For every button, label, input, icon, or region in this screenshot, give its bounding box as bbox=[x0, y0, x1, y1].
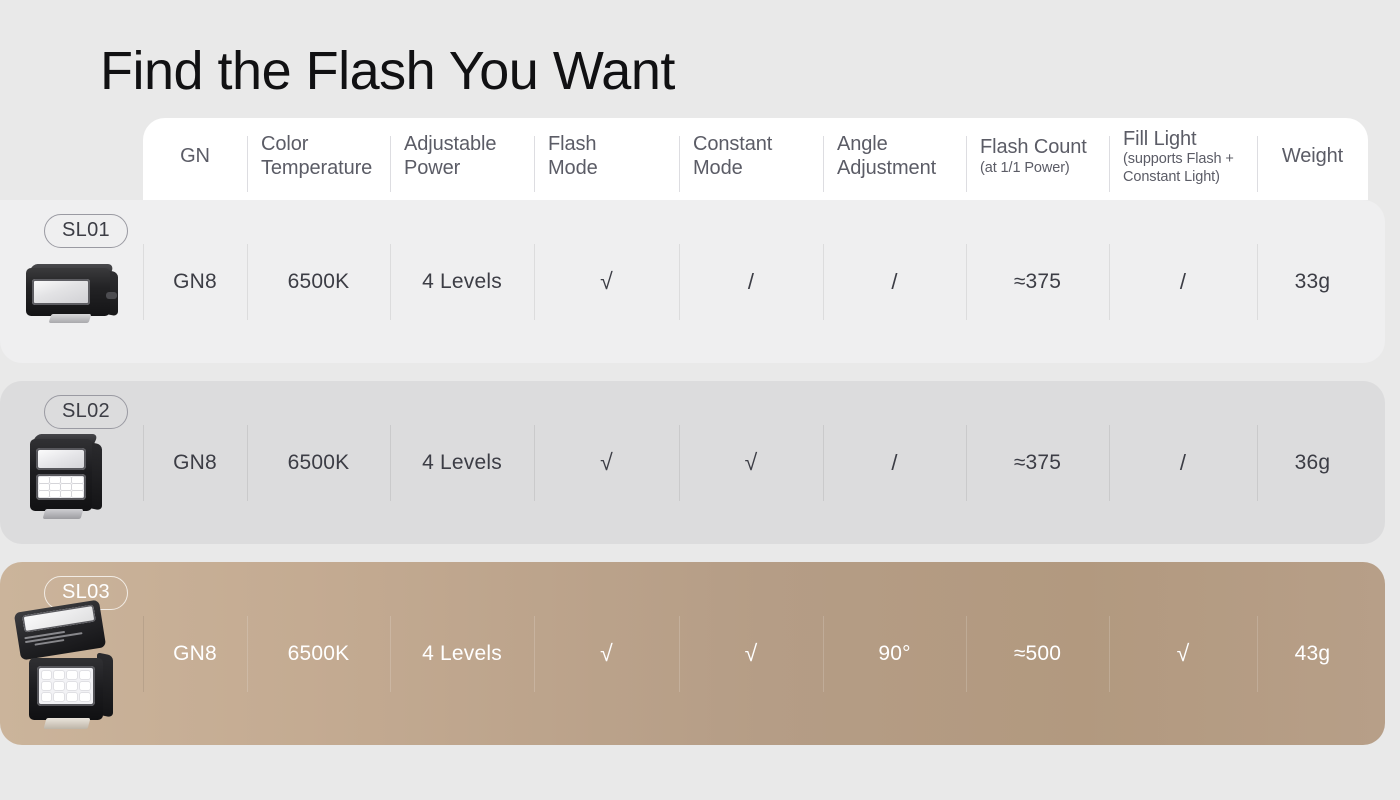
cell-gn: GN8 bbox=[143, 381, 247, 544]
cell-angle-adjustment: 90° bbox=[823, 562, 966, 745]
comparison-table: GN Color Temperature Adjustable Power Fl… bbox=[0, 118, 1400, 745]
cell-flash-mode: √ bbox=[534, 200, 679, 363]
table-header-row: GN Color Temperature Adjustable Power Fl… bbox=[143, 118, 1368, 200]
product-image-cell bbox=[0, 562, 143, 745]
cell-flash-count: ≈375 bbox=[966, 381, 1109, 544]
cell-angle-adjustment: / bbox=[823, 200, 966, 363]
column-header-color-temperature: Color Temperature bbox=[247, 118, 390, 200]
cell-flash-mode: √ bbox=[534, 381, 679, 544]
flash-sl01-icon bbox=[20, 262, 124, 326]
cell-adjustable-power: 4 Levels bbox=[390, 381, 534, 544]
cell-adjustable-power: 4 Levels bbox=[390, 200, 534, 363]
cell-weight: 33g bbox=[1257, 200, 1368, 363]
cell-gn: GN8 bbox=[143, 200, 247, 363]
cell-constant-mode: / bbox=[679, 200, 823, 363]
cell-fill-light: / bbox=[1109, 200, 1257, 363]
column-header-adjustable-power: Adjustable Power bbox=[390, 118, 534, 200]
cell-fill-light: √ bbox=[1109, 562, 1257, 745]
table-row[interactable]: SL01 GN8 6500K 4 Levels √ / / ≈375 / 33g bbox=[0, 200, 1385, 363]
cell-adjustable-power: 4 Levels bbox=[390, 562, 534, 745]
cell-flash-count: ≈500 bbox=[966, 562, 1109, 745]
cell-weight: 43g bbox=[1257, 562, 1368, 745]
cell-constant-mode: √ bbox=[679, 562, 823, 745]
cell-constant-mode: √ bbox=[679, 381, 823, 544]
column-header-flash-count: Flash Count (at 1/1 Power) bbox=[966, 118, 1109, 200]
cell-weight: 36g bbox=[1257, 381, 1368, 544]
column-header-flash-mode: Flash Mode bbox=[534, 118, 679, 200]
table-row[interactable]: SL03 GN8 6500K 4 Levels √ √ 90° ≈500 √ bbox=[0, 562, 1385, 745]
cell-color-temperature: 6500K bbox=[247, 200, 390, 363]
cell-flash-count: ≈375 bbox=[966, 200, 1109, 363]
column-header-constant-mode: Constant Mode bbox=[679, 118, 823, 200]
column-header-angle-adjustment: Angle Adjustment bbox=[823, 118, 966, 200]
cell-gn: GN8 bbox=[143, 562, 247, 745]
flash-sl03-icon bbox=[13, 604, 131, 736]
cell-color-temperature: 6500K bbox=[247, 562, 390, 745]
flash-sl02-icon bbox=[24, 429, 120, 527]
cell-color-temperature: 6500K bbox=[247, 381, 390, 544]
column-header-weight: Weight bbox=[1257, 118, 1368, 200]
product-image-cell bbox=[0, 200, 143, 363]
column-header-fill-light: Fill Light (supports Flash + Constant Li… bbox=[1109, 118, 1257, 200]
cell-fill-light: / bbox=[1109, 381, 1257, 544]
column-header-gn: GN bbox=[143, 118, 247, 200]
cell-angle-adjustment: / bbox=[823, 381, 966, 544]
product-image-cell bbox=[0, 381, 143, 544]
table-row[interactable]: SL02 GN8 6500K 4 Levels √ √ / ≈375 / 36g bbox=[0, 381, 1385, 544]
page-title: Find the Flash You Want bbox=[100, 40, 675, 102]
cell-flash-mode: √ bbox=[534, 562, 679, 745]
